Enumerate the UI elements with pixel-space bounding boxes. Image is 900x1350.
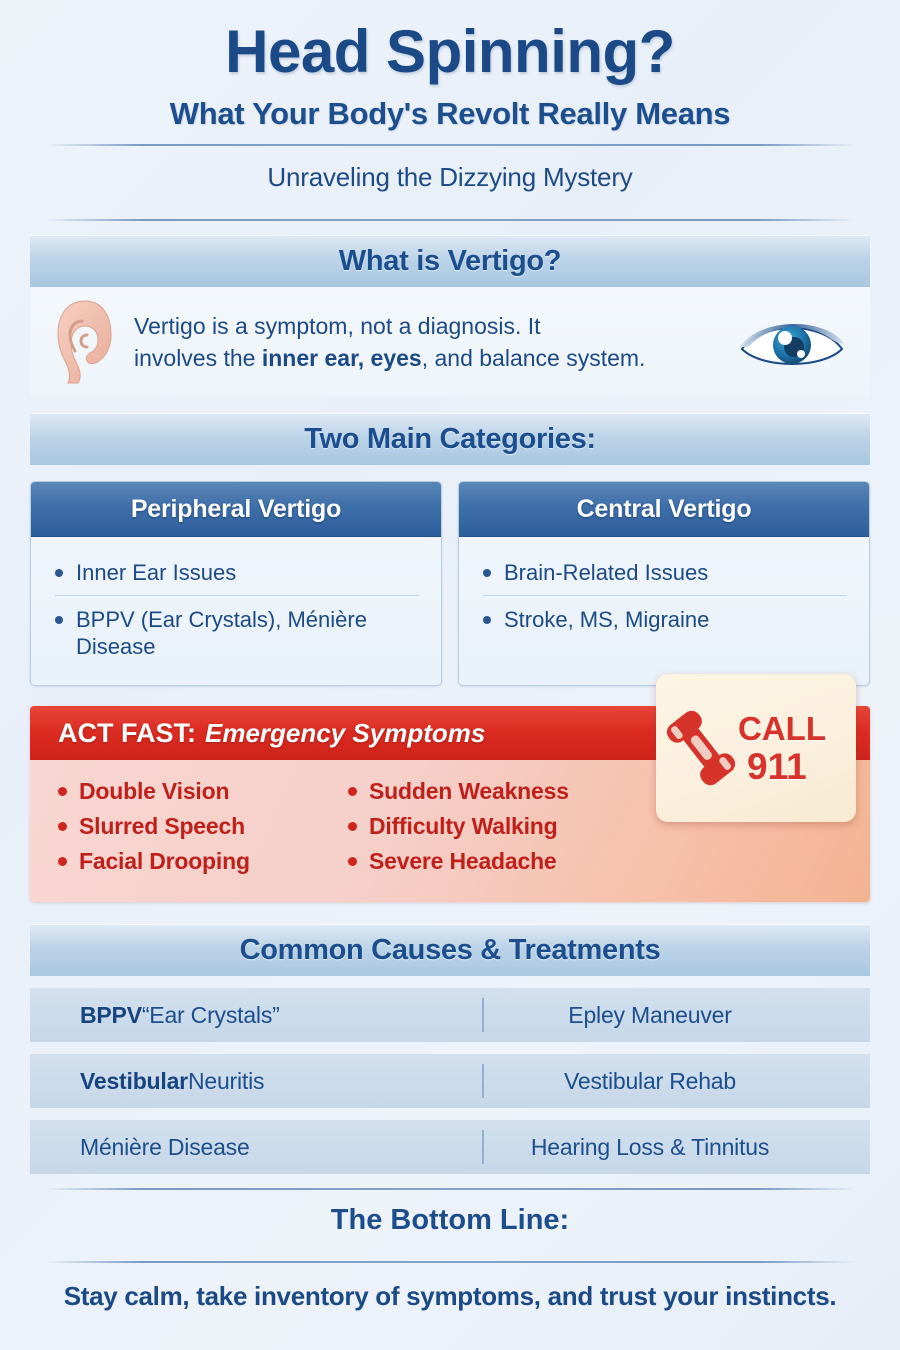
- call-word: CALL: [738, 712, 826, 745]
- emergency-column-left: Double Vision Slurred Speech Facial Droo…: [30, 774, 330, 884]
- header-divider-bottom: [44, 219, 856, 221]
- list-item: Inner Ear Issues: [49, 551, 423, 593]
- table-cell-treatment: Vestibular Rehab: [460, 1068, 870, 1095]
- list-item-label: Stroke, MS, Migraine: [504, 606, 709, 634]
- definition-line-1: Vertigo is a symptom, not a diagnosis. I…: [134, 313, 541, 339]
- table-cell-cause: BPPV “Ear Crystals”: [30, 1002, 460, 1029]
- card-header-peripheral: Peripheral Vertigo: [31, 482, 441, 537]
- table-cell-cause: Vestibular Neuritis: [30, 1068, 460, 1095]
- list-item-label: Difficulty Walking: [369, 813, 558, 840]
- list-item: Stroke, MS, Migraine: [477, 598, 851, 640]
- bullet-dot-icon: [55, 616, 63, 624]
- table-column-divider: [482, 1064, 484, 1098]
- cause-rest: “Ear Crystals”: [142, 1002, 280, 1029]
- causes-treatments-table: BPPV “Ear Crystals” Epley Maneuver Vesti…: [30, 988, 870, 1174]
- bullet-dot-icon: [58, 787, 67, 796]
- table-column-divider: [482, 998, 484, 1032]
- list-item: Severe Headache: [348, 844, 620, 879]
- page-subtitle: What Your Body's Revolt Really Means: [0, 96, 900, 132]
- table-column-divider: [482, 1130, 484, 1164]
- emergency-column-right: Sudden Weakness Difficulty Walking Sever…: [330, 774, 620, 884]
- vertigo-definition-text: Vertigo is a symptom, not a diagnosis. I…: [118, 310, 736, 374]
- section-title-two-main-categories: Two Main Categories:: [304, 423, 596, 456]
- cause-rest: Neuritis: [188, 1068, 264, 1095]
- bullet-dot-icon: [483, 616, 491, 624]
- card-title-central: Central Vertigo: [577, 495, 752, 524]
- list-divider: [483, 595, 847, 596]
- treatment-label: Vestibular Rehab: [564, 1068, 736, 1095]
- table-cell-treatment: Epley Maneuver: [460, 1002, 870, 1029]
- header: Head Spinning? What Your Body's Revolt R…: [0, 0, 900, 221]
- list-item-label: Sudden Weakness: [369, 778, 569, 805]
- emergency-panel: ACT FAST: Emergency Symptoms Double Visi…: [30, 706, 870, 902]
- bullet-dot-icon: [348, 857, 357, 866]
- list-item: BPPV (Ear Crystals), Ménière Disease: [49, 598, 423, 667]
- table-row: Vestibular Neuritis Vestibular Rehab: [30, 1054, 870, 1108]
- list-item: Slurred Speech: [58, 809, 330, 844]
- card-central-vertigo: Central Vertigo Brain-Related Issues Str…: [458, 481, 870, 686]
- list-item: Brain-Related Issues: [477, 551, 851, 593]
- section-title-common-causes: Common Causes & Treatments: [240, 934, 661, 967]
- eye-icon: [736, 311, 848, 373]
- section-band-what-is-vertigo: What is Vertigo?: [30, 235, 870, 287]
- vertigo-definition-row: Vertigo is a symptom, not a diagnosis. I…: [30, 287, 870, 397]
- definition-line-2-prefix: involves the: [134, 345, 262, 371]
- bullet-dot-icon: [58, 822, 67, 831]
- card-body-peripheral: Inner Ear Issues BPPV (Ear Crystals), Mé…: [31, 537, 441, 685]
- list-item: Sudden Weakness: [348, 774, 620, 809]
- bottom-line-title: The Bottom Line:: [0, 1190, 900, 1249]
- card-header-central: Central Vertigo: [459, 482, 869, 537]
- list-item-label: Inner Ear Issues: [76, 559, 236, 587]
- list-item-label: Slurred Speech: [79, 813, 245, 840]
- section-title-what-is-vertigo: What is Vertigo?: [339, 245, 561, 278]
- list-item-label: Severe Headache: [369, 848, 557, 875]
- list-item-label: BPPV (Ear Crystals), Ménière Disease: [76, 606, 423, 661]
- bullet-dot-icon: [58, 857, 67, 866]
- treatment-label: Epley Maneuver: [568, 1002, 731, 1029]
- call-911-card: CALL 911: [656, 674, 856, 822]
- list-item: Double Vision: [58, 774, 330, 809]
- card-title-peripheral: Peripheral Vertigo: [131, 495, 341, 524]
- bullet-dot-icon: [55, 569, 63, 577]
- bullet-dot-icon: [348, 822, 357, 831]
- list-item: Facial Drooping: [58, 844, 330, 879]
- cause-bold: BPPV: [80, 1002, 142, 1029]
- table-cell-cause: Ménière Disease: [30, 1134, 460, 1161]
- page-title: Head Spinning?: [0, 22, 900, 82]
- phone-handset-icon: [666, 709, 736, 787]
- bullet-dot-icon: [483, 569, 491, 577]
- call-911-text: CALL 911: [738, 712, 826, 785]
- list-item: Difficulty Walking: [348, 809, 620, 844]
- page-tagline: Unraveling the Dizzying Mystery: [0, 146, 900, 207]
- section-band-two-main-categories: Two Main Categories:: [30, 413, 870, 465]
- bottom-line-text: Stay calm, take inventory of symptoms, a…: [0, 1263, 900, 1312]
- infographic-page: Head Spinning? What Your Body's Revolt R…: [0, 0, 900, 1350]
- emergency-header-strong: ACT FAST:: [58, 718, 196, 749]
- header-divider-top: [44, 144, 856, 146]
- bottom-divider-top: [44, 1188, 856, 1190]
- list-item-label: Double Vision: [79, 778, 229, 805]
- list-item-label: Brain-Related Issues: [504, 559, 708, 587]
- section-band-common-causes: Common Causes & Treatments: [30, 924, 870, 976]
- cause-bold: Vestibular: [80, 1068, 188, 1095]
- ear-icon: [52, 299, 118, 385]
- card-peripheral-vertigo: Peripheral Vertigo Inner Ear Issues BPPV…: [30, 481, 442, 686]
- emergency-header-italic: Emergency Symptoms: [205, 718, 485, 749]
- bottom-divider-bottom: [44, 1261, 856, 1263]
- list-divider: [55, 595, 419, 596]
- bottom-line-section: The Bottom Line: Stay calm, take invento…: [0, 1188, 900, 1312]
- table-cell-treatment: Hearing Loss & Tinnitus: [460, 1134, 870, 1161]
- category-cards: Peripheral Vertigo Inner Ear Issues BPPV…: [30, 481, 870, 686]
- table-row: BPPV “Ear Crystals” Epley Maneuver: [30, 988, 870, 1042]
- bullet-dot-icon: [348, 787, 357, 796]
- cause-rest: Ménière Disease: [80, 1134, 250, 1161]
- card-body-central: Brain-Related Issues Stroke, MS, Migrain…: [459, 537, 869, 657]
- table-row: Ménière Disease Hearing Loss & Tinnitus: [30, 1120, 870, 1174]
- definition-line-2-suffix: , and balance system.: [422, 345, 646, 371]
- treatment-label: Hearing Loss & Tinnitus: [531, 1134, 769, 1161]
- definition-emphasis: inner ear, eyes: [262, 345, 422, 371]
- list-item-label: Facial Drooping: [79, 848, 250, 875]
- call-number: 911: [747, 748, 826, 785]
